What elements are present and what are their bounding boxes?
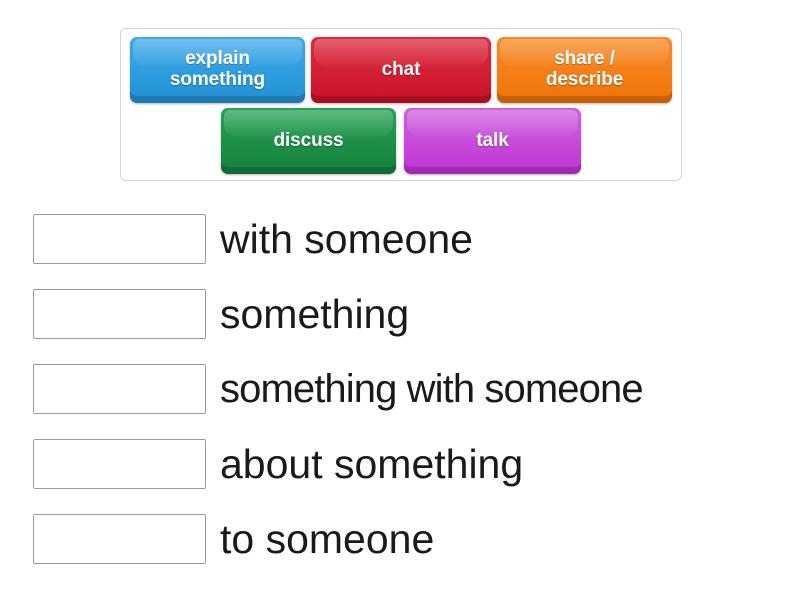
answer-row: to someone [33,514,788,564]
tile-talk[interactable]: talk [404,108,581,174]
tile-chat-label: chat [382,60,421,81]
answer-label-5: to someone [220,519,434,560]
answer-label-3: something with someone [220,369,643,409]
word-bank-row-1: explainsomething chat share /describe [121,37,681,103]
answer-label-1: with someone [220,219,473,260]
tile-talk-label: talk [476,131,508,152]
drop-box-3[interactable] [33,364,206,414]
tile-label-line2: something [170,69,265,90]
tile-share-describe[interactable]: share /describe [497,37,672,103]
word-bank-row-2: discuss talk [121,108,681,174]
drop-box-4[interactable] [33,439,206,489]
answer-row: with someone [33,214,788,264]
answer-row: something [33,289,788,339]
tile-discuss-label: discuss [273,131,343,152]
answer-list: with someone something something with so… [33,214,788,564]
tile-label-line1: share / [554,48,615,69]
tile-explain-something[interactable]: explainsomething [130,37,305,103]
word-bank-panel: explainsomething chat share /describe di… [120,28,682,181]
tile-share-describe-label: share /describe [546,49,623,90]
answer-row: about something [33,439,788,489]
answer-label-2: something [220,294,409,335]
tile-chat[interactable]: chat [311,37,491,103]
tile-explain-something-label: explainsomething [170,49,265,90]
answer-row: something with someone [33,364,788,414]
drop-box-1[interactable] [33,214,206,264]
answer-label-4: about something [220,444,523,485]
tile-label-line2: describe [546,69,623,90]
tile-label-line1: explain [185,48,250,69]
tile-discuss[interactable]: discuss [221,108,396,174]
drop-box-5[interactable] [33,514,206,564]
drop-box-2[interactable] [33,289,206,339]
